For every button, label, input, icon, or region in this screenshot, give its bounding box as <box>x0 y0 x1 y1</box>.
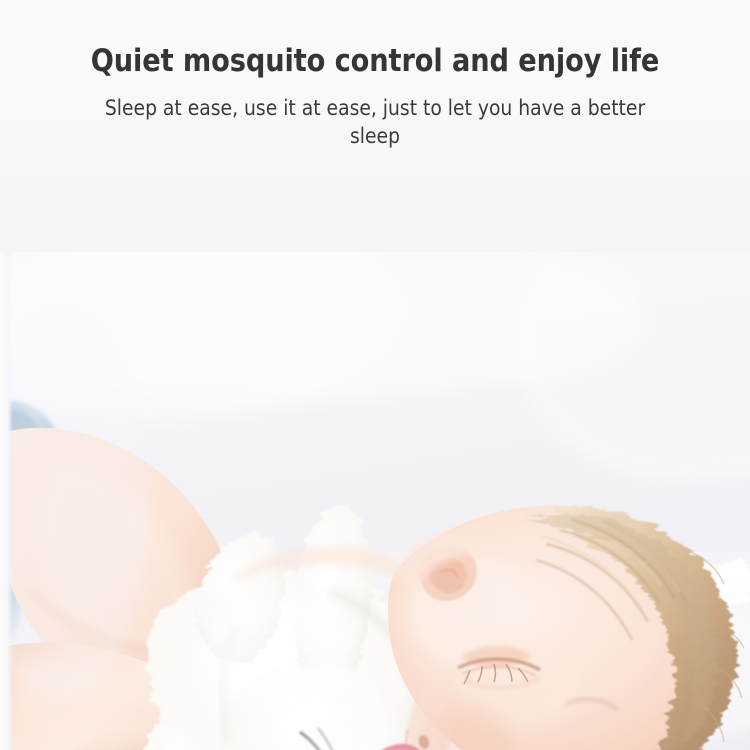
page-title: Quiet mosquito control and enjoy life <box>53 44 696 79</box>
headline-block: Quiet mosquito control and enjoy life Sl… <box>0 0 750 252</box>
product-banner: Quiet mosquito control and enjoy life Sl… <box>0 0 750 750</box>
sleeping-baby-illustration <box>0 252 750 750</box>
hero-photo <box>0 252 750 750</box>
page-subtitle: Sleep at ease, use it at ease, just to l… <box>89 95 661 151</box>
